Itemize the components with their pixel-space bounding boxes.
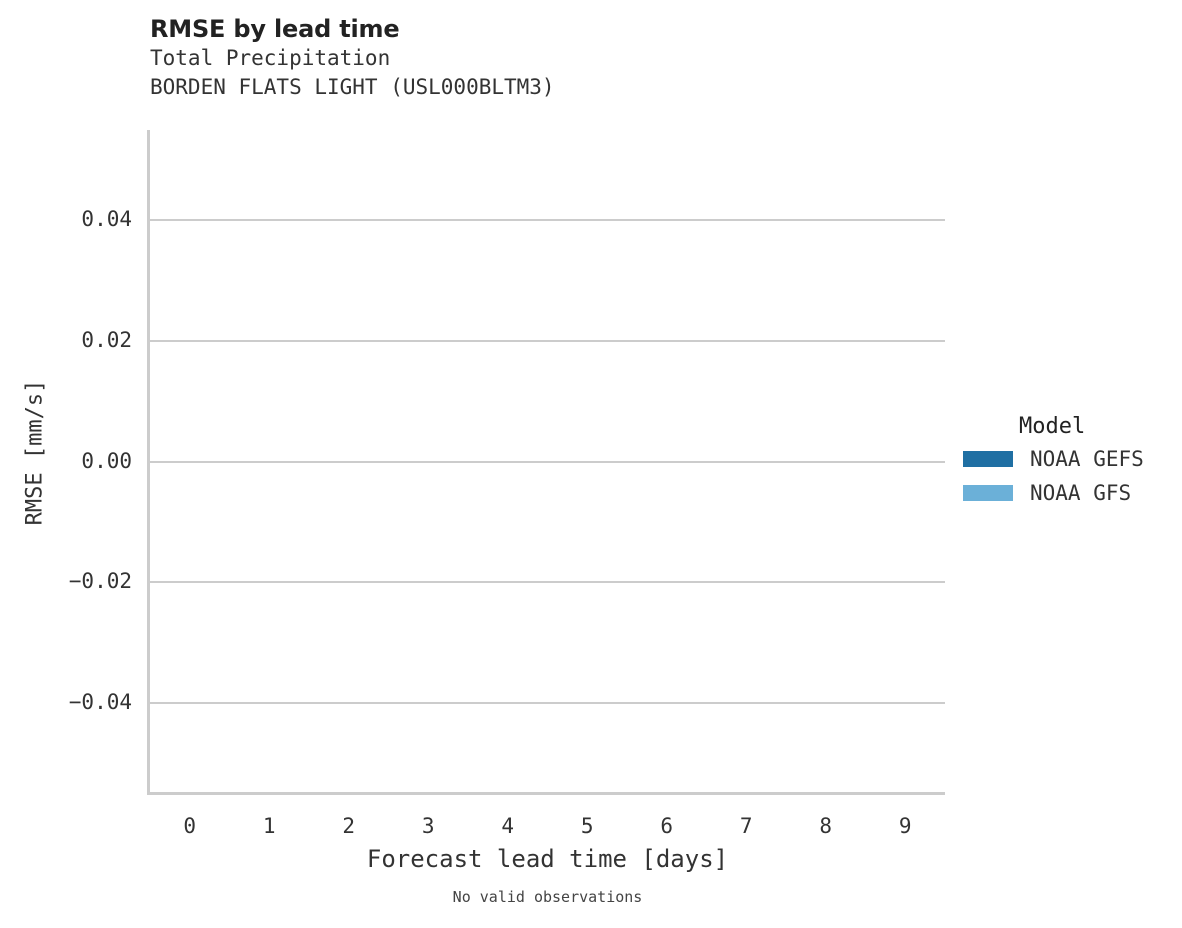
legend-item-label: NOAA GFS xyxy=(1030,481,1131,505)
plot-area xyxy=(150,130,945,793)
legend-title: Model xyxy=(1019,412,1178,442)
x-tick-label: 4 xyxy=(478,814,538,838)
x-axis-label: Forecast lead time [days] xyxy=(150,845,945,873)
chart-subtitle-variable: Total Precipitation xyxy=(150,44,910,73)
legend-entries: NOAA GEFSNOAA GFS xyxy=(963,442,1178,510)
x-tick-label: 6 xyxy=(637,814,697,838)
chart-caption: No valid observations xyxy=(150,888,945,906)
x-tick-label: 9 xyxy=(875,814,935,838)
page-title: RMSE by lead time xyxy=(150,14,910,44)
x-tick-label: 3 xyxy=(398,814,458,838)
x-tick-label: 8 xyxy=(796,814,856,838)
legend: Model NOAA GEFSNOAA GFS xyxy=(963,412,1178,510)
gridline xyxy=(150,340,945,342)
x-tick-label: 7 xyxy=(716,814,776,838)
y-axis-tick-labels: 0.040.020.00−0.02−0.04 xyxy=(0,0,132,928)
y-tick-label: −0.04 xyxy=(12,692,132,713)
legend-color-swatch xyxy=(963,451,1013,467)
legend-item[interactable]: NOAA GEFS xyxy=(963,442,1178,476)
gridline xyxy=(150,461,945,463)
y-axis-label: RMSE [mm/s] xyxy=(23,323,48,583)
gridline xyxy=(150,702,945,704)
legend-item-label: NOAA GEFS xyxy=(1030,447,1144,471)
y-axis-spine xyxy=(147,130,150,795)
y-tick-label: 0.04 xyxy=(12,209,132,230)
legend-item[interactable]: NOAA GFS xyxy=(963,476,1178,510)
title-block: RMSE by lead time Total Precipitation BO… xyxy=(150,14,910,102)
x-axis-spine xyxy=(147,792,945,795)
gridline xyxy=(150,581,945,583)
x-tick-label: 1 xyxy=(239,814,299,838)
x-tick-label: 5 xyxy=(557,814,617,838)
legend-color-swatch xyxy=(963,485,1013,501)
chart-subtitle-station: BORDEN FLATS LIGHT (USL000BLTM3) xyxy=(150,73,910,102)
x-tick-label: 0 xyxy=(160,814,220,838)
gridline xyxy=(150,219,945,221)
x-tick-label: 2 xyxy=(319,814,379,838)
